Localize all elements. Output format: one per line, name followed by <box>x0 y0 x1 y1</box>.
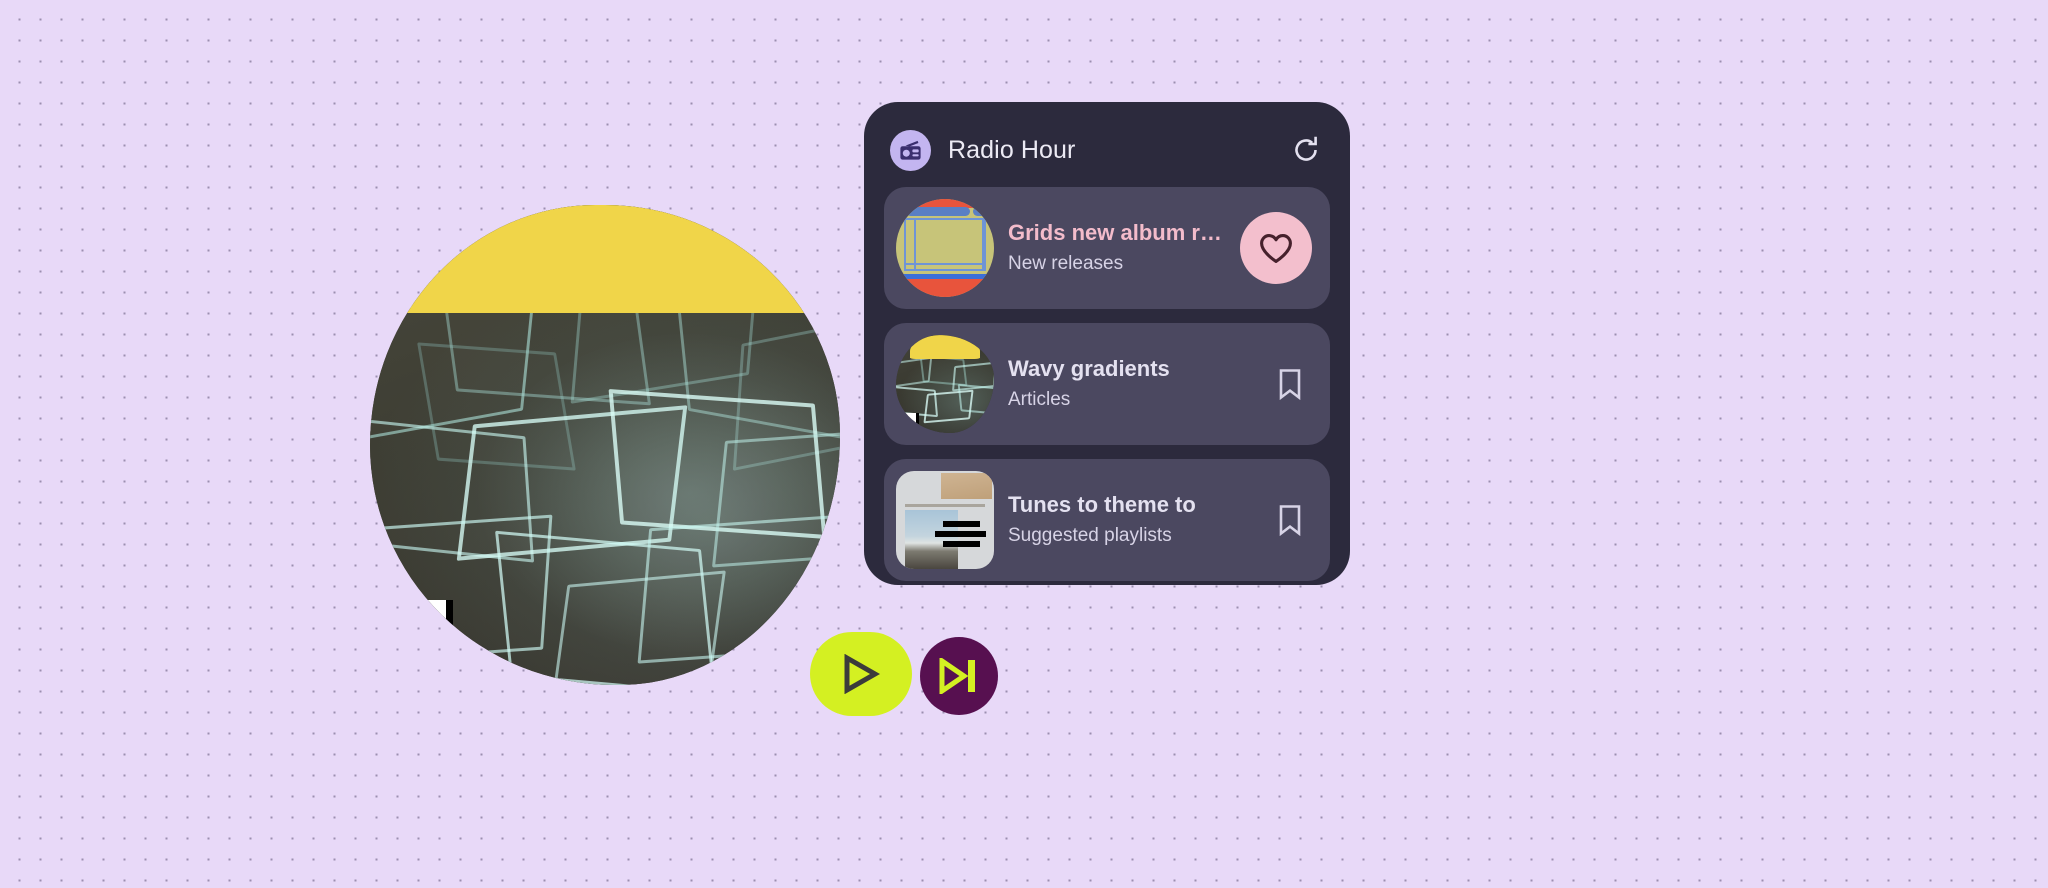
thumb-shape <box>973 207 994 216</box>
list-item-subtitle: Suggested playlists <box>1008 523 1268 549</box>
like-button[interactable] <box>1240 212 1312 284</box>
list-item-title: Wavy gradients <box>1008 355 1268 383</box>
thumb-shape <box>905 510 958 569</box>
bookmark-icon <box>1277 504 1303 536</box>
refresh-icon <box>1291 135 1321 165</box>
radio-hour-panel: Radio Hour Grids new album r… <box>864 102 1350 585</box>
page-title: Radio Hour <box>948 136 1075 165</box>
thumb-shape <box>943 521 980 527</box>
bookmark-icon <box>1277 368 1303 400</box>
play-icon <box>842 654 880 694</box>
play-button[interactable] <box>810 632 912 716</box>
skip-next-button[interactable] <box>920 637 998 715</box>
panel-header: Radio Hour <box>884 120 1330 180</box>
thumb-shape <box>957 384 994 416</box>
radio-glyph <box>899 140 922 161</box>
album-artwork <box>370 205 840 685</box>
list-item[interactable]: Wavy gradients Articles <box>884 323 1330 445</box>
artwork-yellow-band <box>370 205 840 313</box>
thumb-shape <box>902 413 919 431</box>
heart-icon <box>1259 233 1293 264</box>
radio-icon <box>890 130 931 171</box>
list-item[interactable]: Tunes to theme to Suggested playlists <box>884 459 1330 581</box>
skip-next-icon <box>938 658 980 694</box>
album-artwork-stage <box>370 205 840 685</box>
bookmark-button[interactable] <box>1268 498 1312 542</box>
artwork-corner-bracket <box>389 600 453 666</box>
list-item-text: Tunes to theme to Suggested playlists <box>1008 491 1268 549</box>
list-item[interactable]: Grids new album r… New releases <box>884 187 1330 309</box>
refresh-button[interactable] <box>1288 132 1324 168</box>
thumb-shape <box>941 473 992 499</box>
list-item-text: Wavy gradients Articles <box>1008 355 1268 413</box>
wavy-gradients-thumbnail <box>896 335 994 433</box>
list-item-text: Grids new album r… New releases <box>1008 219 1240 277</box>
bookmark-button[interactable] <box>1268 362 1312 406</box>
tunes-thumbnail <box>896 471 994 569</box>
list-item-title: Tunes to theme to <box>1008 491 1268 519</box>
feed-list: Grids new album r… New releases <box>884 187 1330 581</box>
artwork-facet <box>550 571 726 685</box>
thumb-shape <box>904 263 986 266</box>
grids-thumbnail <box>896 199 994 297</box>
thumb-shape <box>943 541 980 547</box>
thumb-shape <box>905 504 985 507</box>
thumb-shape <box>935 531 986 537</box>
list-item-title: Grids new album r… <box>1008 219 1240 247</box>
list-item-subtitle: New releases <box>1008 251 1240 277</box>
list-item-subtitle: Articles <box>1008 387 1268 413</box>
thumb-shape <box>896 279 994 297</box>
thumb-shape <box>906 207 971 216</box>
